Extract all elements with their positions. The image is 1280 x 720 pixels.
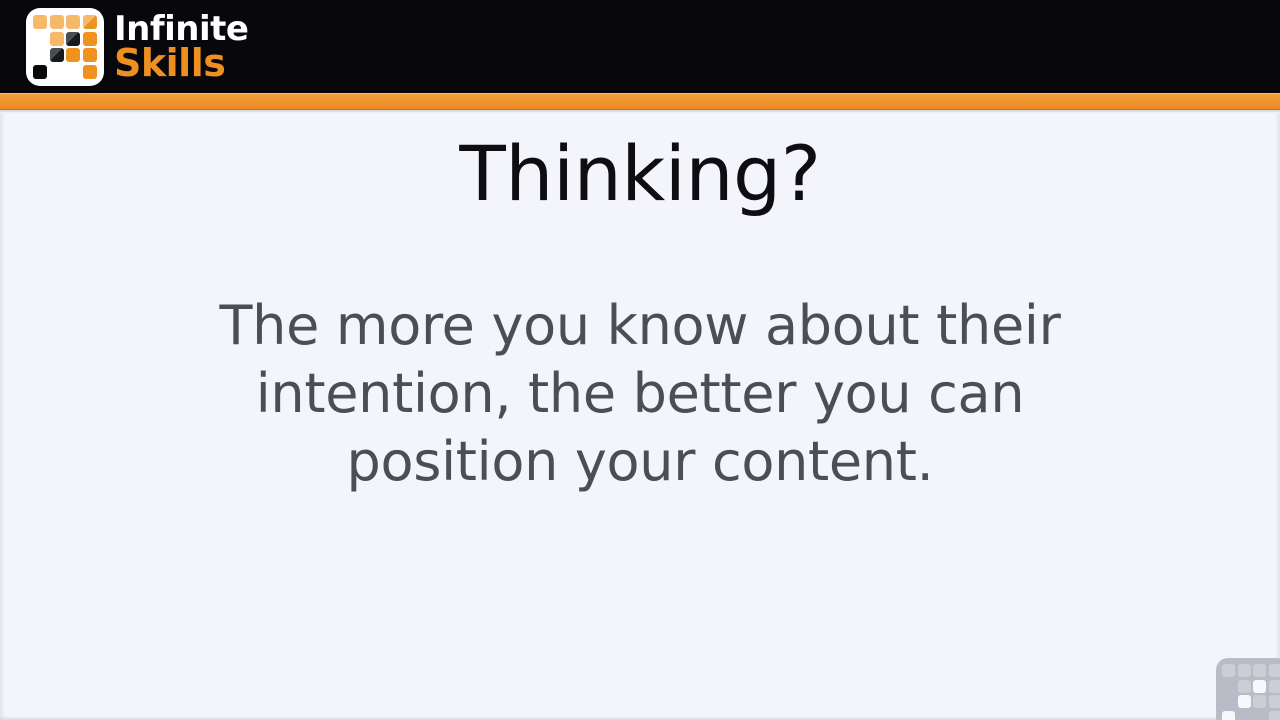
watermark-cell (1222, 680, 1235, 693)
logo-cell (50, 15, 64, 29)
logo-cell (83, 48, 97, 62)
slide-right-edge-shade (1275, 113, 1280, 720)
wordmark-line-skills: Skills (114, 46, 248, 80)
infinite-skills-grid-logo-icon (26, 8, 104, 86)
presentation-slide: Infinite Skills What Are Your Visitors T… (0, 0, 1280, 720)
logo-cell (50, 48, 64, 62)
watermark-cell (1222, 711, 1235, 720)
watermark-cell (1253, 680, 1266, 693)
logo-cell (83, 65, 97, 79)
logo-cell (50, 65, 64, 79)
watermark-cell (1253, 711, 1266, 720)
brand-wordmark: Infinite Skills (114, 14, 248, 81)
logo-cell (66, 48, 80, 62)
logo-cell (50, 32, 64, 46)
watermark-cell (1253, 664, 1266, 677)
watermark-cell (1238, 711, 1251, 720)
wordmark-line-infinite: Infinite (114, 14, 248, 45)
logo-cell (33, 32, 47, 46)
watermark-cell (1238, 680, 1251, 693)
watermark-cell (1238, 695, 1251, 708)
watermark-cell (1269, 695, 1280, 708)
logo-cell (33, 65, 47, 79)
watermark-cell (1238, 664, 1251, 677)
watermark-cell (1222, 695, 1235, 708)
logo-cell (83, 32, 97, 46)
slide-bottom-edge-shade (0, 716, 1280, 720)
accent-rule-shadow (0, 110, 1280, 113)
logo-cell (83, 15, 97, 29)
accent-rule (0, 93, 1280, 110)
logo-cell (66, 32, 80, 46)
watermark-cell (1253, 695, 1266, 708)
watermark-cell (1269, 711, 1280, 720)
brand-logo-lockup: Infinite Skills (26, 6, 248, 88)
watermark-cell (1222, 664, 1235, 677)
logo-cell (66, 15, 80, 29)
logo-cell (33, 15, 47, 29)
logo-grid (33, 15, 97, 79)
watermark-cell (1269, 664, 1280, 677)
watermark-grid (1222, 664, 1280, 720)
slide-left-edge-shade (0, 113, 5, 720)
slide-subtitle: The more you know about their intention,… (180, 292, 1100, 496)
watermark-cell (1269, 680, 1280, 693)
corner-watermark (1216, 658, 1280, 720)
infinite-skills-grid-watermark-icon (1216, 658, 1280, 720)
logo-cell (33, 48, 47, 62)
logo-cell (66, 65, 80, 79)
